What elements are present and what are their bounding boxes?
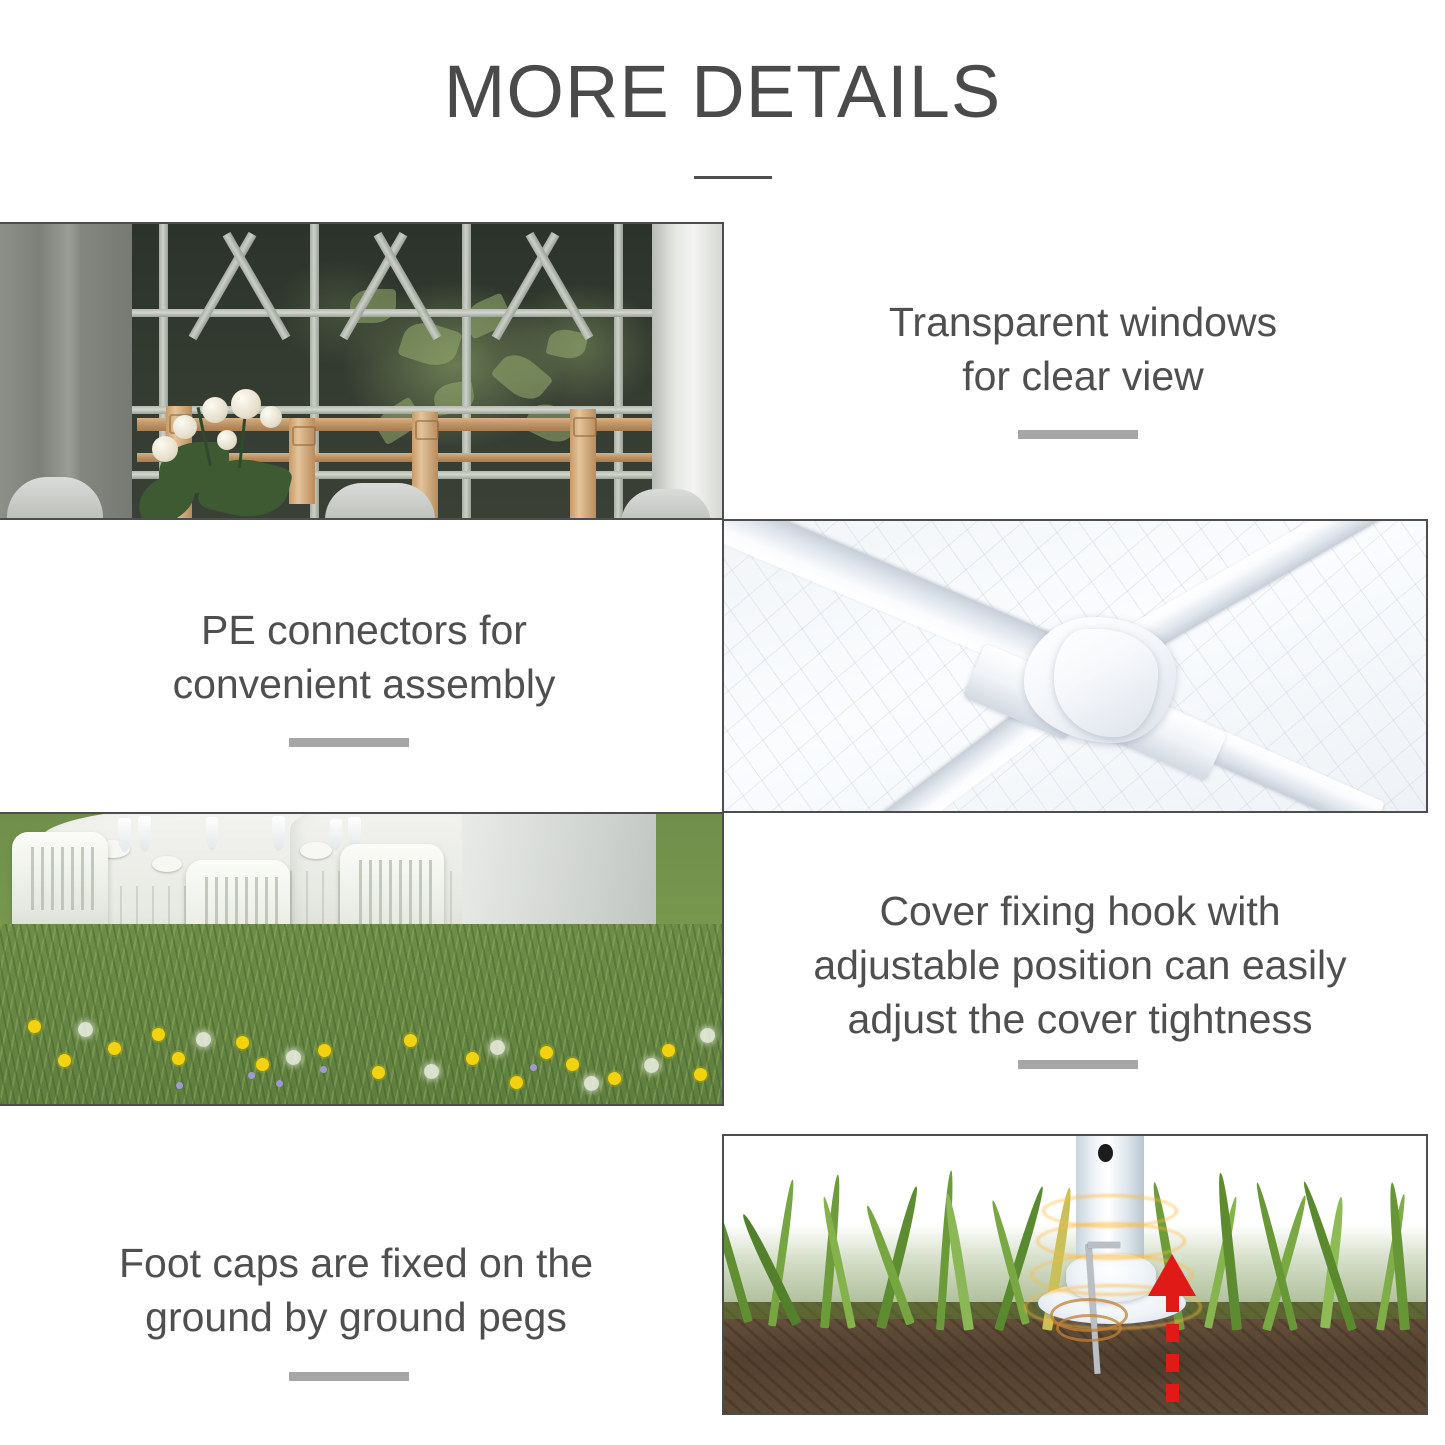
caption-transparent-windows: Transparent windows for clear view [737,295,1429,403]
caption-line: for clear view [737,349,1429,403]
caption-line: Transparent windows [737,295,1429,349]
ground-peg-hook [1088,1242,1120,1248]
caption-divider-transparent-windows [1018,430,1138,439]
caption-divider-cover-fixing-hook [1018,1060,1138,1069]
caption-divider-pe-connectors [289,738,409,747]
caption-line: ground by ground pegs [10,1290,702,1344]
pole-hole [1098,1144,1113,1162]
photo-pe-connector [722,519,1428,813]
caption-foot-caps: Foot caps are fixed on the ground by gro… [10,1236,702,1344]
photo-foot-cap-ground-peg [722,1134,1428,1415]
caption-cover-fixing-hook: Cover fixing hook with adjustable positi… [727,884,1433,1046]
caption-line: convenient assembly [18,657,710,711]
photo-transparent-windows-scene [0,224,722,518]
photo-foot-cap-ground-peg-scene [724,1136,1426,1413]
caption-line: adjustable position can easily [727,938,1433,992]
page-title: MORE DETAILS [0,55,1445,129]
caption-divider-foot-caps [289,1372,409,1381]
title-divider [694,176,772,179]
tent-fabric-right [652,224,722,518]
photo-cover-fixing-hook [0,812,724,1106]
caption-line: adjust the cover tightness [727,992,1433,1046]
tent-fabric-left [0,224,132,518]
photo-pe-connector-scene [724,521,1426,811]
caption-line: PE connectors for [18,603,710,657]
more-details-infographic: MORE DETAILS [0,0,1445,1445]
red-arrow-dashes [1166,1294,1179,1413]
caption-line: Cover fixing hook with [727,884,1433,938]
caption-pe-connectors: PE connectors for convenient assembly [18,603,710,711]
photo-transparent-windows [0,222,724,520]
photo-cover-fixing-hook-scene [0,814,722,1104]
caption-line: Foot caps are fixed on the [10,1236,702,1290]
red-arrow-head [1148,1254,1196,1296]
